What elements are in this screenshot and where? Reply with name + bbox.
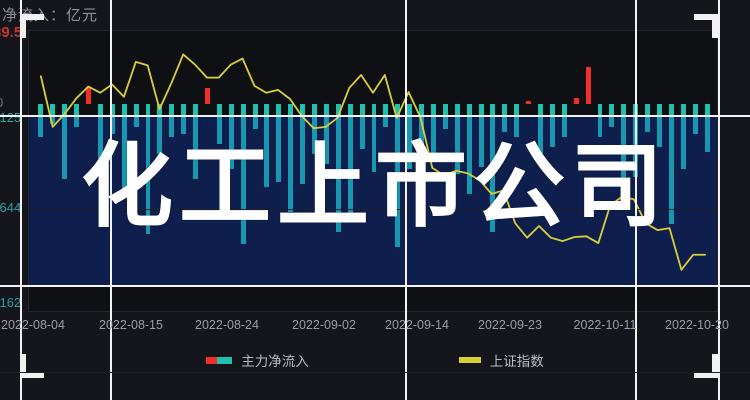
crosshair-horizontal[interactable] [0, 115, 750, 117]
y-axis-label-3: -9162 [0, 295, 21, 310]
x-axis-label: 2022-09-02 [292, 318, 356, 332]
x-axis-label: 2022-10-11 [573, 318, 636, 332]
x-axis-label: 2022-10-20 [665, 318, 729, 332]
watermark-text: 化工上市公司 [0, 139, 750, 235]
metric-value: -39.5 [0, 24, 22, 41]
bracket-top-left[interactable] [20, 14, 26, 38]
x-axis-label: 2022-08-24 [195, 318, 259, 332]
y-axis-label-1: -3125 [0, 110, 21, 125]
x-axis-label: 2022-09-14 [385, 318, 449, 332]
metric-title: 主力净流入：亿元 [0, 4, 98, 25]
chart-legend[interactable]: 主力净流入 上证指数 [0, 348, 750, 372]
y-axis-label-0: 0 [0, 95, 3, 110]
legend-swatch-line-icon [459, 357, 481, 363]
x-axis-label: 2022-08-04 [1, 318, 65, 332]
bracket-top-right[interactable] [712, 14, 718, 38]
bottom-divider [0, 372, 750, 373]
legend-label-sse-index: 上证指数 [490, 350, 544, 370]
legend-swatch-bar-icon [206, 357, 232, 364]
crosshair-horizontal[interactable] [0, 285, 750, 287]
chart-screenshot: 主力净流入：亿元 -39.5 0 -3125 -6644 -9162 2022-… [0, 0, 750, 400]
x-axis-label: 2022-09-23 [478, 318, 542, 332]
legend-item-net-inflow[interactable]: 主力净流入 [206, 350, 309, 370]
legend-item-sse-index[interactable]: 上证指数 [459, 350, 544, 370]
legend-label-net-inflow: 主力净流入 [241, 350, 309, 370]
x-axis-label: 2022-08-15 [99, 318, 163, 332]
